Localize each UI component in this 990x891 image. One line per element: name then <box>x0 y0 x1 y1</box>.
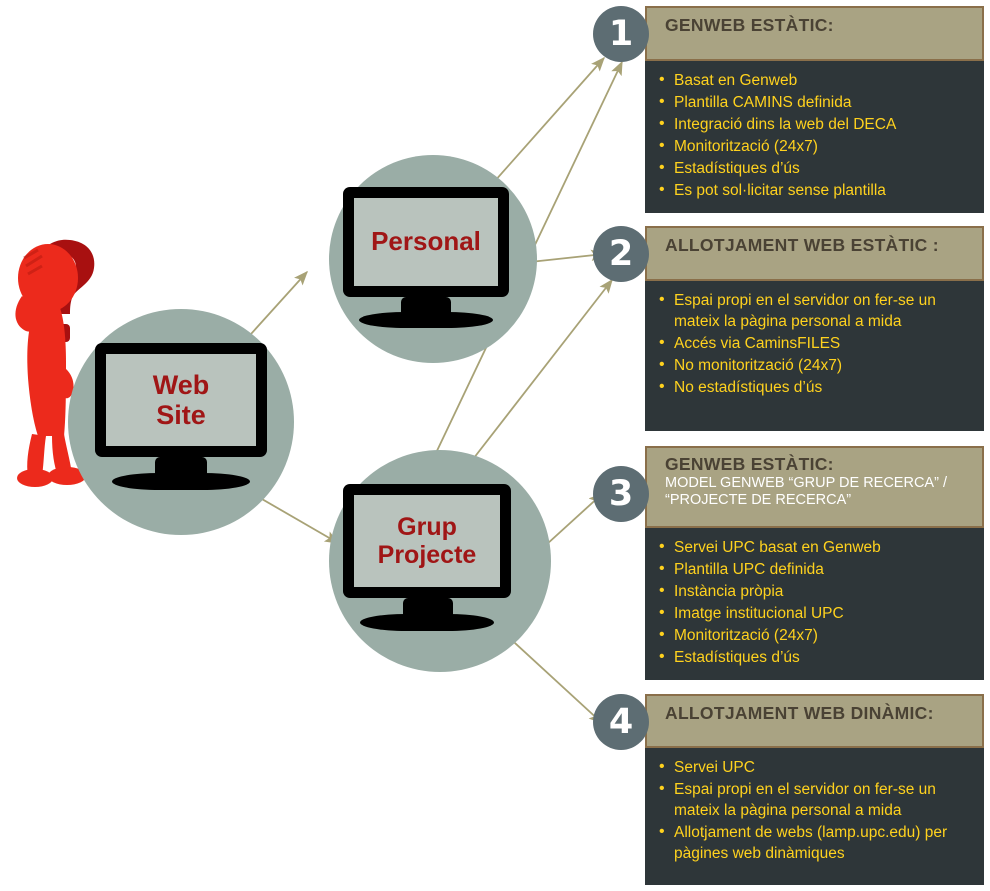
block-4-title: ALLOTJAMENT WEB DINÀMIC: <box>665 703 972 724</box>
block-3-body: Servei UPC basat en Genweb Plantilla UPC… <box>645 528 984 680</box>
node-personal[interactable]: Personal <box>329 155 537 363</box>
badge-4[interactable]: 4 <box>593 694 649 750</box>
node-website[interactable]: Web Site <box>68 309 294 535</box>
list-item: Basat en Genweb <box>657 70 974 91</box>
list-item: Instància pròpia <box>657 581 974 602</box>
block-1-title: GENWEB ESTÀTIC: <box>665 15 972 36</box>
monitor-icon-website: Web Site <box>95 343 267 495</box>
website-label-line1: Web <box>153 370 210 400</box>
list-item: Servei UPC basat en Genweb <box>657 537 974 558</box>
info-block-3: GENWEB ESTÀTIC: MODEL GENWEB “GRUP DE RE… <box>645 446 984 680</box>
list-item: Imatge institucional UPC <box>657 603 974 624</box>
block-1-header: GENWEB ESTÀTIC: <box>645 6 984 61</box>
monitor-screen-grup: Grup Projecte <box>354 495 500 587</box>
list-item: Allotjament de webs (lamp.upc.edu) per p… <box>657 822 974 864</box>
monitor-icon-grup: Grup Projecte <box>343 484 511 636</box>
block-3-subtitle-line2: “PROJECTE DE RECERCA” <box>665 492 972 509</box>
block-3-subtitle-line1: MODEL GENWEB “GRUP DE RECERCA” / <box>665 475 972 492</box>
list-item: No monitorització (24x7) <box>657 355 974 376</box>
list-item: No estadístiques d’ús <box>657 377 974 398</box>
list-item: Servei UPC <box>657 757 974 778</box>
badge-3[interactable]: 3 <box>593 466 649 522</box>
node-grup-projecte[interactable]: Grup Projecte <box>329 450 551 672</box>
info-block-2: ALLOTJAMENT WEB ESTÀTIC : Espai propi en… <box>645 226 984 431</box>
block-2-body: Espai propi en el servidor on fer-se un … <box>645 281 984 431</box>
monitor-screen-personal: Personal <box>354 198 498 286</box>
info-block-4: ALLOTJAMENT WEB DINÀMIC: Servei UPC Espa… <box>645 694 984 885</box>
block-3-header: GENWEB ESTÀTIC: MODEL GENWEB “GRUP DE RE… <box>645 446 984 528</box>
list-item: Plantilla CAMINS definida <box>657 92 974 113</box>
badge-2[interactable]: 2 <box>593 226 649 282</box>
diagram-canvas: Web Site Personal Grup Projecte <box>0 0 990 891</box>
block-3-title: GENWEB ESTÀTIC: <box>665 454 972 475</box>
monitor-screen-website: Web Site <box>106 354 256 446</box>
grup-label-line2: Projecte <box>378 541 477 569</box>
info-block-1: GENWEB ESTÀTIC: Basat en Genweb Plantill… <box>645 6 984 213</box>
block-2-header: ALLOTJAMENT WEB ESTÀTIC : <box>645 226 984 281</box>
list-item: Monitorització (24x7) <box>657 625 974 646</box>
list-item: Espai propi en el servidor on fer-se un … <box>657 290 974 332</box>
block-2-title: ALLOTJAMENT WEB ESTÀTIC : <box>665 235 972 256</box>
list-item: Estadístiques d’ús <box>657 647 974 668</box>
grup-label-line1: Grup <box>397 513 457 541</box>
monitor-icon-personal: Personal <box>343 187 509 333</box>
list-item: Espai propi en el servidor on fer-se un … <box>657 779 974 821</box>
list-item: Estadístiques d’ús <box>657 158 974 179</box>
list-item: Accés via CaminsFILES <box>657 333 974 354</box>
list-item: Plantilla UPC definida <box>657 559 974 580</box>
block-4-body: Servei UPC Espai propi en el servidor on… <box>645 748 984 885</box>
list-item: Monitorització (24x7) <box>657 136 974 157</box>
personal-label: Personal <box>371 227 481 256</box>
arrow-grup-to-4 <box>503 632 602 723</box>
badge-1[interactable]: 1 <box>593 6 649 62</box>
list-item: Integració dins la web del DECA <box>657 114 974 135</box>
block-4-header: ALLOTJAMENT WEB DINÀMIC: <box>645 694 984 748</box>
block-1-body: Basat en Genweb Plantilla CAMINS definid… <box>645 61 984 213</box>
website-label-line2: Site <box>156 400 206 430</box>
list-item: Es pot sol·licitar sense plantilla <box>657 180 974 201</box>
